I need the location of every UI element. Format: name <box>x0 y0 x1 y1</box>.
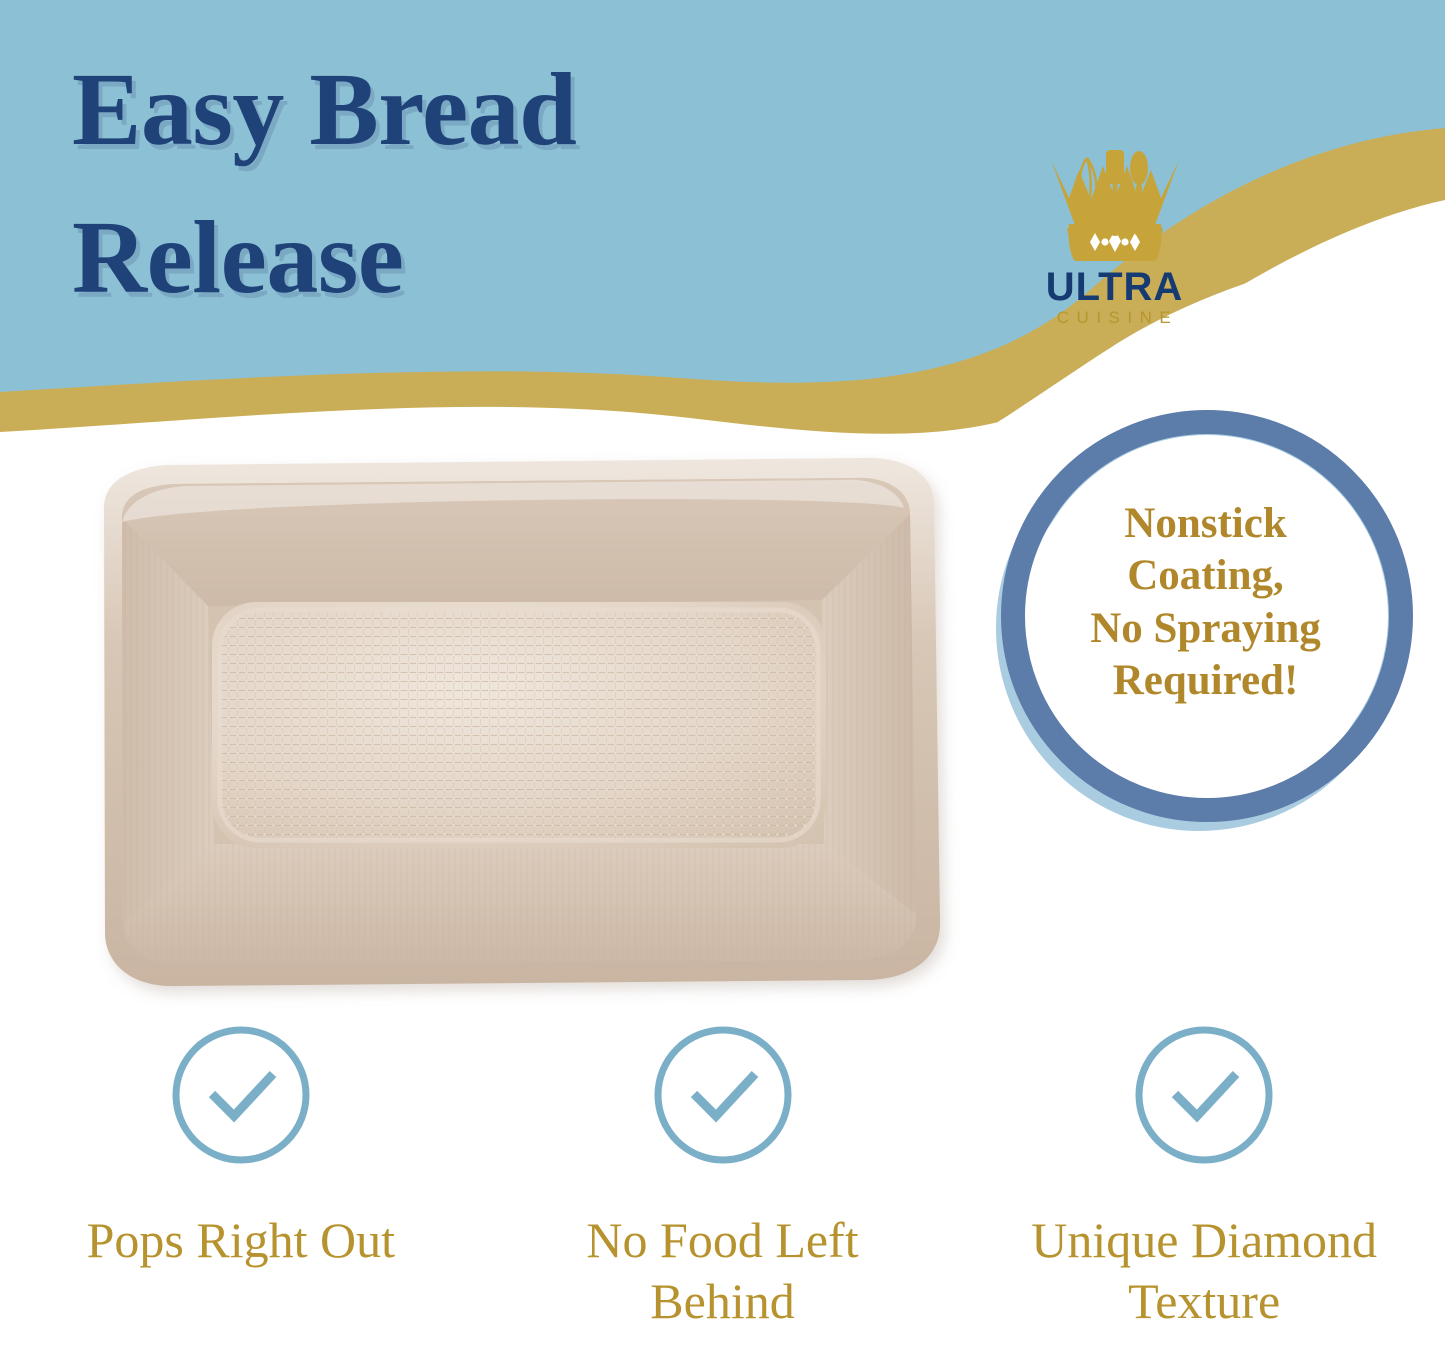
pan-diamond-texture <box>212 602 826 848</box>
feature-label: Unique Diamond Texture <box>1031 1210 1377 1332</box>
page-title-line-1: Easy Bread <box>72 36 832 184</box>
feature-label-line-1: Pops Right Out <box>87 1210 395 1271</box>
page-title: Easy Bread Release <box>72 36 832 331</box>
badge-line-4: Required! <box>1018 655 1393 707</box>
badge-line-3: No Spraying <box>1018 603 1393 655</box>
feature-label: Pops Right Out <box>87 1210 395 1271</box>
chef-crown-utensils-icon <box>1039 140 1191 262</box>
feature-item-unique-diamond-texture: Unique Diamond Texture <box>963 1022 1445 1354</box>
check-circle-icon <box>168 1022 314 1168</box>
badge-line-1: Nonstick <box>1018 498 1393 550</box>
feature-item-no-food-left-behind: No Food Left Behind <box>482 1022 964 1354</box>
product-image-loaf-pan <box>62 452 962 1012</box>
feature-label-line-1: No Food Left <box>586 1210 858 1271</box>
feature-label: No Food Left Behind <box>586 1210 858 1332</box>
brand-logo: ULTRA CUISINE <box>1007 140 1222 328</box>
feature-label-line-2: Behind <box>586 1271 858 1332</box>
check-circle-icon <box>650 1022 796 1168</box>
brand-tagline: CUISINE <box>1013 308 1222 328</box>
badge-text: Nonstick Coating, No Spraying Required! <box>1018 498 1393 708</box>
feature-item-pops-right-out: Pops Right Out <box>0 1022 482 1354</box>
brand-name: ULTRA <box>1007 266 1222 308</box>
feature-list: Pops Right Out No Food Left Behind Uniqu… <box>0 1022 1445 1354</box>
feature-label-line-1: Unique Diamond <box>1031 1210 1377 1271</box>
page-title-line-2: Release <box>72 184 832 332</box>
check-circle-icon <box>1131 1022 1277 1168</box>
badge-line-2: Coating, <box>1018 550 1393 602</box>
feature-label-line-2: Texture <box>1031 1271 1377 1332</box>
